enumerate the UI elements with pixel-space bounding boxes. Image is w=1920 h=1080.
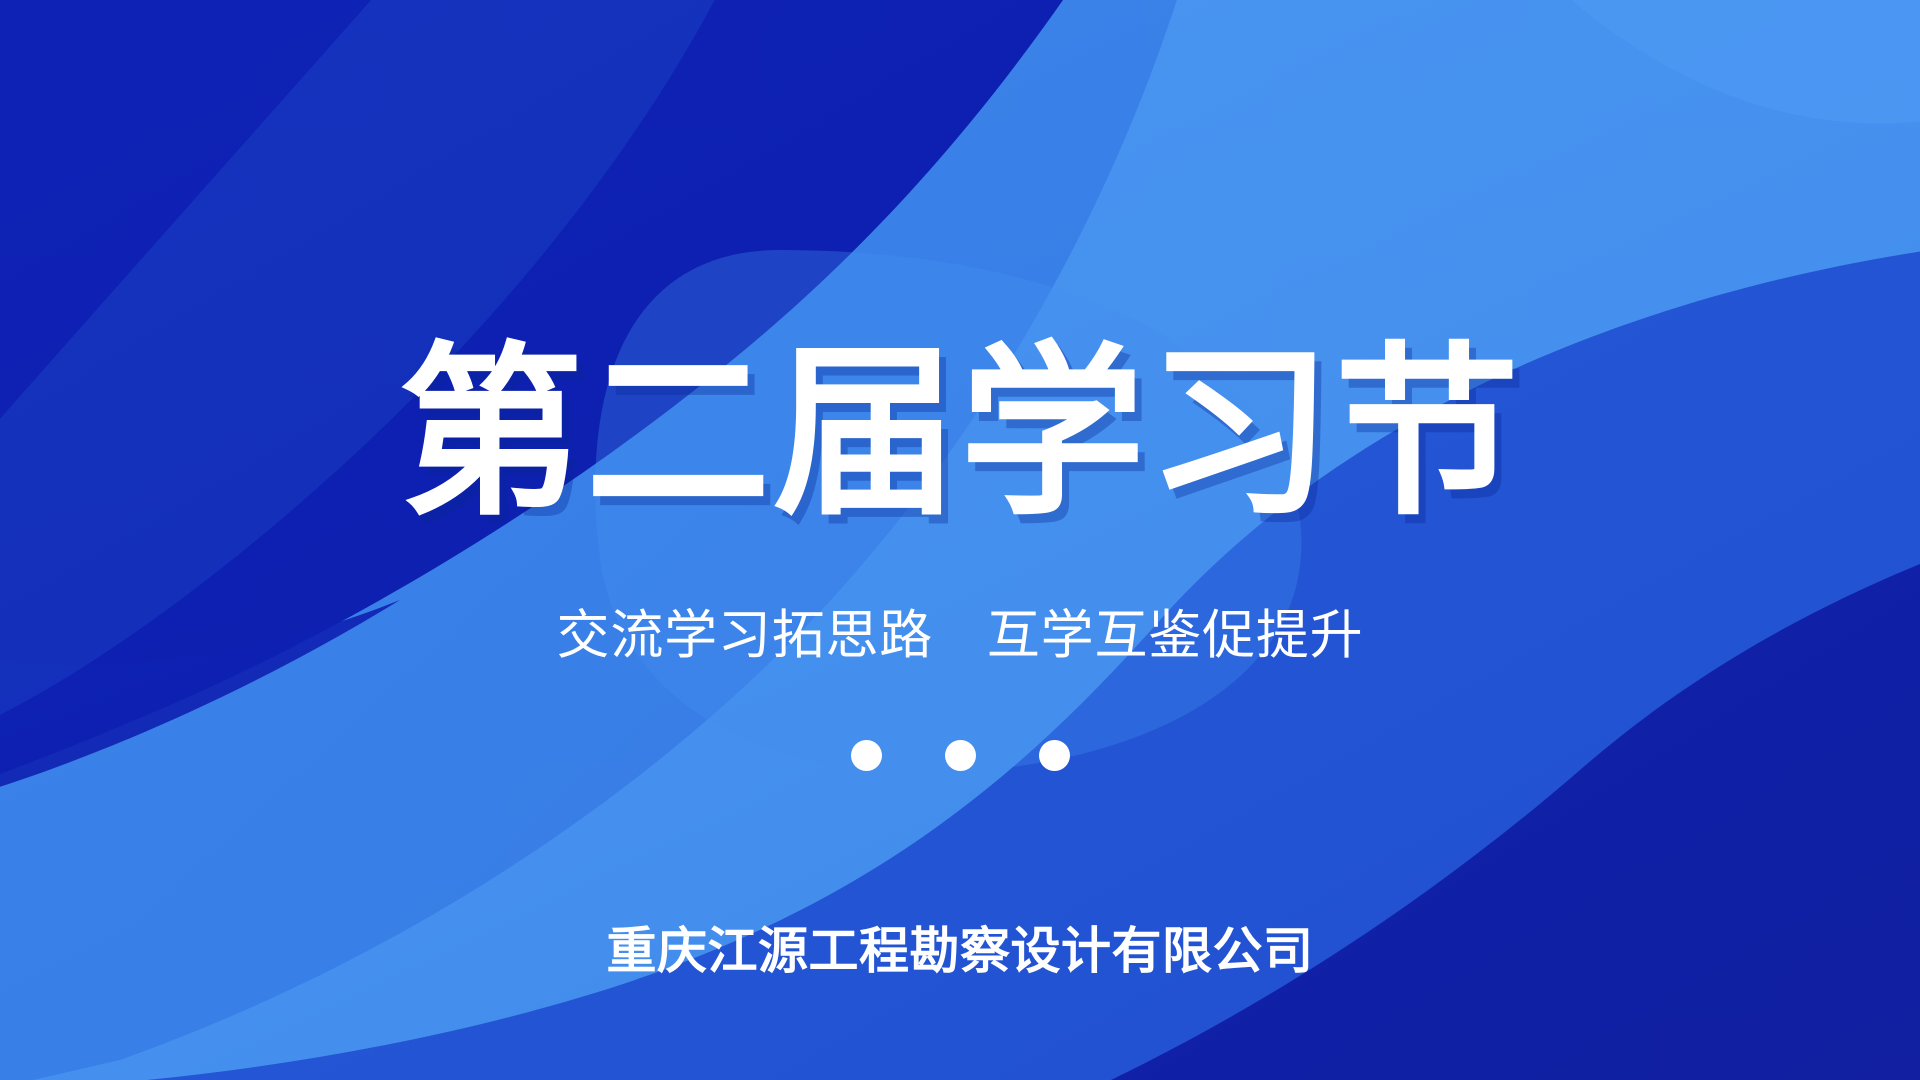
- divider-dot-icon: [1039, 740, 1070, 771]
- divider-dots: [0, 740, 1920, 771]
- divider-dot-icon: [851, 740, 882, 771]
- poster-subtitle: 交流学习拓思路 互学互鉴促提升: [0, 604, 1920, 669]
- page-title: 第二届学习节: [0, 338, 1920, 530]
- poster-canvas: 第二届学习节 交流学习拓思路 互学互鉴促提升 重庆江源工程勘察设计有限公司: [0, 0, 1920, 1080]
- company-name: 重庆江源工程勘察设计有限公司: [0, 921, 1920, 981]
- poster-content: 第二届学习节 交流学习拓思路 互学互鉴促提升 重庆江源工程勘察设计有限公司: [0, 0, 1920, 1080]
- divider-dot-icon: [945, 740, 976, 771]
